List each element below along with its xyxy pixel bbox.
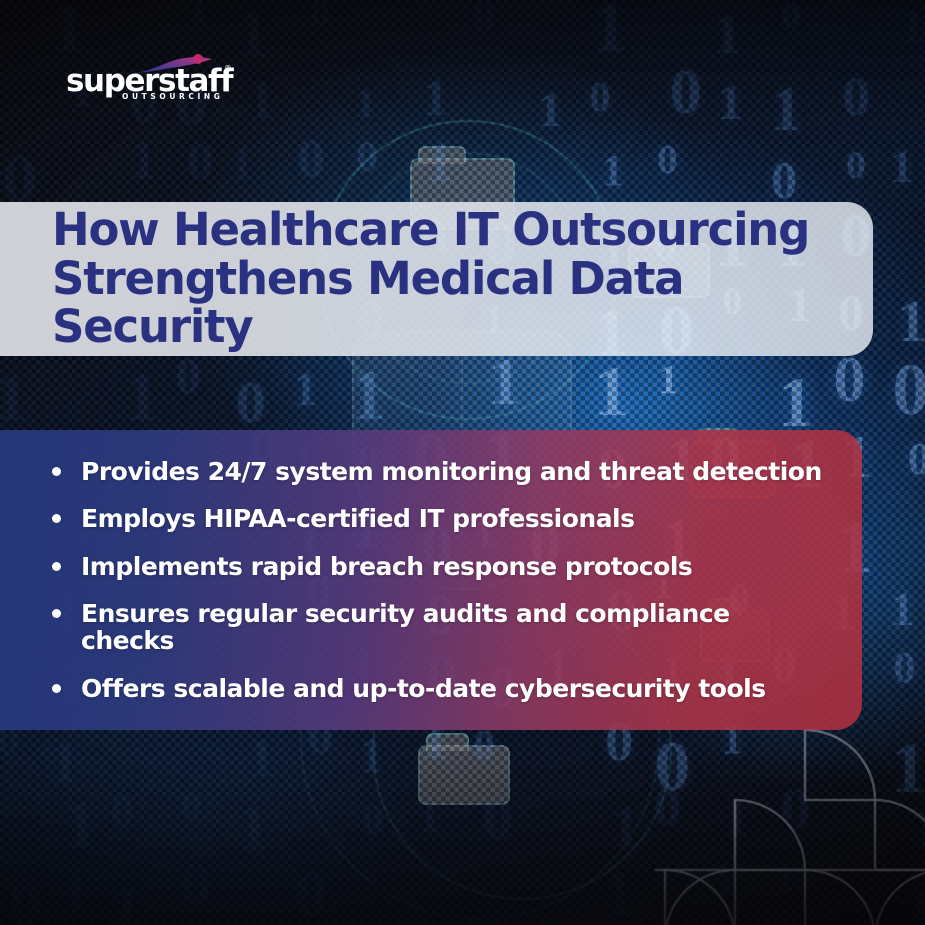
logo-subtitle: OUTSOURCING: [122, 92, 224, 101]
superstaff-logo[interactable]: superstaff ® OUTSOURCING: [66, 56, 242, 102]
list-item-label: Employs HIPAA-certified IT professionals: [81, 505, 635, 533]
list-item: Provides 24/7 system monitoring and thre…: [52, 458, 822, 486]
bullet-dot-icon: [52, 684, 61, 693]
title-panel: How Healthcare IT Outsourcing Strengthen…: [0, 202, 873, 356]
list-item-label: Offers scalable and up-to-date cybersecu…: [81, 675, 766, 703]
registered-trademark-icon: ®: [225, 64, 231, 73]
list-item: Offers scalable and up-to-date cybersecu…: [52, 675, 822, 703]
list-item-label: Provides 24/7 system monitoring and thre…: [81, 458, 822, 486]
list-item-label: Implements rapid breach response protoco…: [81, 553, 692, 581]
page-title: How Healthcare IT Outsourcing Strengthen…: [52, 206, 873, 352]
infographic-poster: 1110011011001111001100101001100011001101…: [0, 0, 925, 925]
bullet-dot-icon: [52, 562, 61, 571]
list-item: Ensures regular security audits and comp…: [52, 600, 822, 655]
benefits-list-panel: Provides 24/7 system monitoring and thre…: [0, 430, 862, 730]
list-item: Implements rapid breach response protoco…: [52, 553, 822, 581]
bullet-dot-icon: [52, 514, 61, 523]
bullet-dot-icon: [52, 467, 61, 476]
list-item: Employs HIPAA-certified IT professionals: [52, 505, 822, 533]
bullet-dot-icon: [52, 609, 61, 618]
list-item-label: Ensures regular security audits and comp…: [81, 600, 822, 655]
